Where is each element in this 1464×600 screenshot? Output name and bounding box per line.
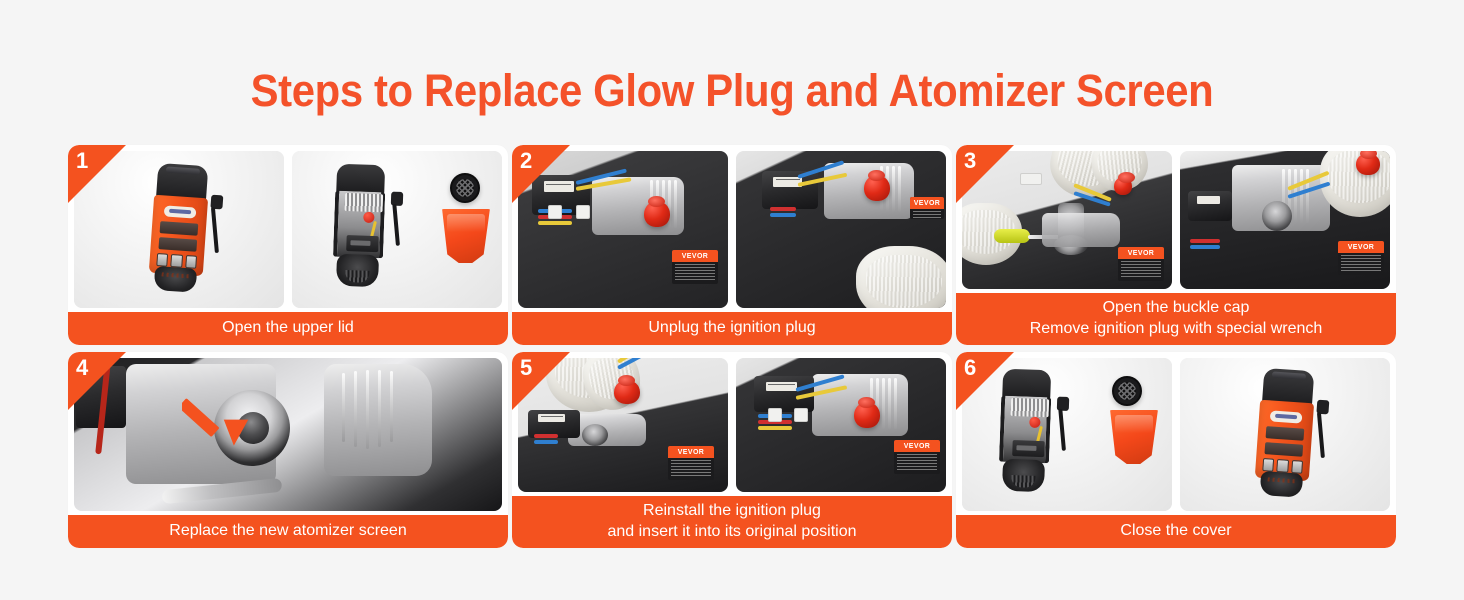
step-caption-2-line1: Unplug the ignition plug: [518, 317, 946, 338]
step-photo-5b[interactable]: VEVOR: [736, 358, 946, 492]
step-card-1[interactable]: 1: [68, 145, 508, 345]
step-card-6[interactable]: 6: [956, 352, 1396, 548]
step-photo-6b[interactable]: [1180, 358, 1390, 511]
step-caption-1: Open the upper lid: [68, 312, 508, 345]
step-photo-1a[interactable]: [74, 151, 284, 308]
step-caption-5: Reinstall the ignition plug and insert i…: [512, 496, 952, 548]
step-photos-3: VEVOR: [956, 145, 1396, 293]
step-photos-2: VEVOR: [512, 145, 952, 312]
steps-grid: 1: [68, 145, 1396, 548]
step-caption-4-line1: Replace the new atomizer screen: [74, 520, 502, 541]
step-photos-6: [956, 352, 1396, 515]
step-card-4[interactable]: 4: [68, 352, 508, 548]
brand-label-2b: VEVOR: [914, 200, 941, 207]
page-title: Steps to Replace Glow Plug and Atomizer …: [51, 66, 1413, 116]
step-caption-3-line2: Remove ignition plug with special wrench: [962, 318, 1390, 339]
step-photo-5a[interactable]: VEVOR: [518, 358, 728, 492]
step-caption-1-line1: Open the upper lid: [74, 317, 502, 338]
step-caption-5-line1: Reinstall the ignition plug: [518, 500, 946, 521]
annotation-arrow: [182, 388, 254, 460]
step-photos-4: [68, 352, 508, 515]
step-photos-1: [68, 145, 508, 312]
step-photo-2a[interactable]: VEVOR: [518, 151, 728, 308]
step-caption-4: Replace the new atomizer screen: [68, 515, 508, 548]
brand-label-5b: VEVOR: [904, 443, 931, 450]
brand-label-2a: VEVOR: [682, 253, 709, 260]
infographic-page: Steps to Replace Glow Plug and Atomizer …: [0, 0, 1464, 600]
step-card-5[interactable]: 5: [512, 352, 952, 548]
step-caption-6: Close the cover: [956, 515, 1396, 548]
brand-label-5a: VEVOR: [678, 449, 705, 456]
step-photo-4a[interactable]: [74, 358, 502, 511]
step-photo-1b[interactable]: [292, 151, 502, 308]
step-photo-3b[interactable]: VEVOR: [1180, 151, 1390, 289]
brand-label-3a: VEVOR: [1128, 250, 1155, 257]
step-photo-3a[interactable]: VEVOR: [962, 151, 1172, 289]
brand-label-3b: VEVOR: [1348, 244, 1375, 251]
step-photo-6a[interactable]: [962, 358, 1172, 511]
step-caption-2: Unplug the ignition plug: [512, 312, 952, 345]
step-caption-3: Open the buckle cap Remove ignition plug…: [956, 293, 1396, 345]
step-caption-5-line2: and insert it into its original position: [518, 521, 946, 542]
step-card-2[interactable]: 2: [512, 145, 952, 345]
step-card-3[interactable]: 3: [956, 145, 1396, 345]
step-photo-2b[interactable]: VEVOR: [736, 151, 946, 308]
step-caption-6-line1: Close the cover: [962, 520, 1390, 541]
step-photos-5: VEVOR: [512, 352, 952, 496]
step-caption-3-line1: Open the buckle cap: [962, 297, 1390, 318]
